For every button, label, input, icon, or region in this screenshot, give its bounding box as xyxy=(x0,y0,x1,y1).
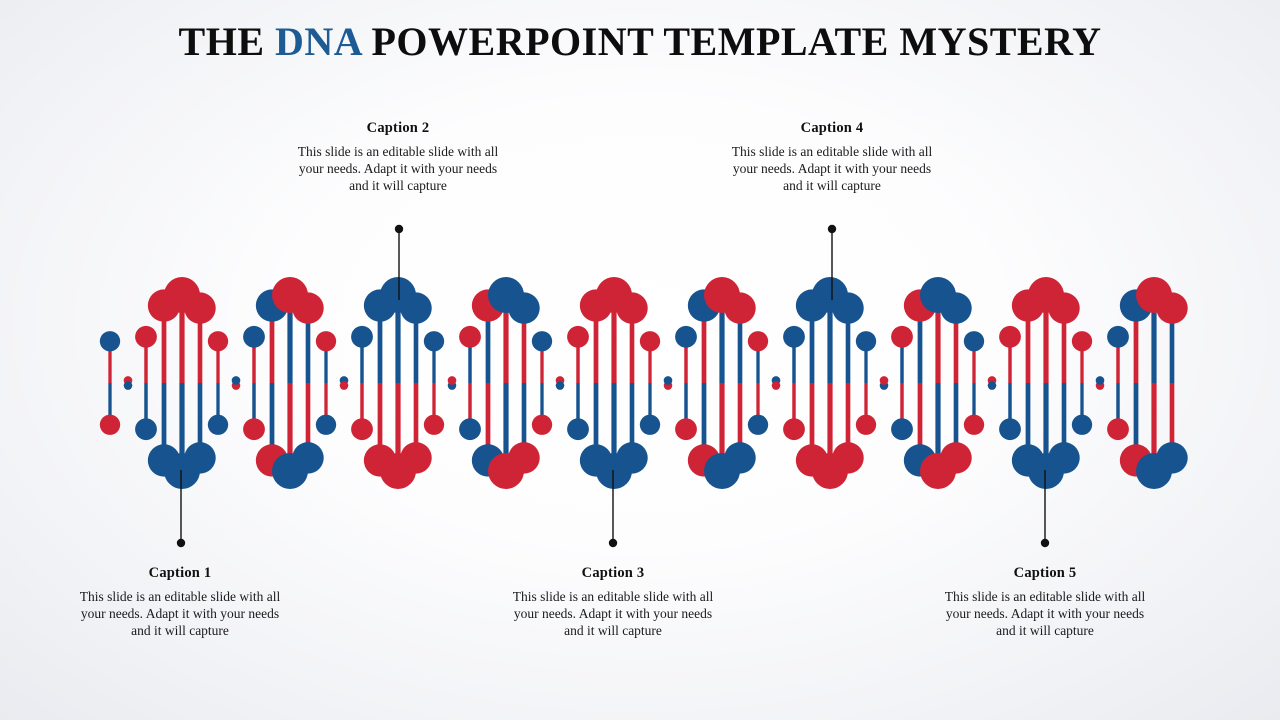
caption-5-body: This slide is an editable slide with all… xyxy=(935,588,1155,639)
caption-3: Caption 3 This slide is an editable slid… xyxy=(503,565,723,639)
caption-2: Caption 2 This slide is an editable slid… xyxy=(288,120,508,194)
slide-canvas: THE DNA POWERPOINT TEMPLATE MYSTERY Capt… xyxy=(0,0,1280,720)
caption-2-body: This slide is an editable slide with all… xyxy=(288,143,508,194)
caption-1: Caption 1 This slide is an editable slid… xyxy=(70,565,290,639)
caption-3-body: This slide is an editable slide with all… xyxy=(503,588,723,639)
caption-1-body: This slide is an editable slide with all… xyxy=(70,588,290,639)
caption-4-title: Caption 4 xyxy=(722,120,942,137)
caption-3-title: Caption 3 xyxy=(503,565,723,582)
caption-1-title: Caption 1 xyxy=(70,565,290,582)
caption-4-body: This slide is an editable slide with all… xyxy=(722,143,942,194)
caption-4: Caption 4 This slide is an editable slid… xyxy=(722,120,942,194)
caption-5: Caption 5 This slide is an editable slid… xyxy=(935,565,1155,639)
caption-5-title: Caption 5 xyxy=(935,565,1155,582)
caption-2-title: Caption 2 xyxy=(288,120,508,137)
